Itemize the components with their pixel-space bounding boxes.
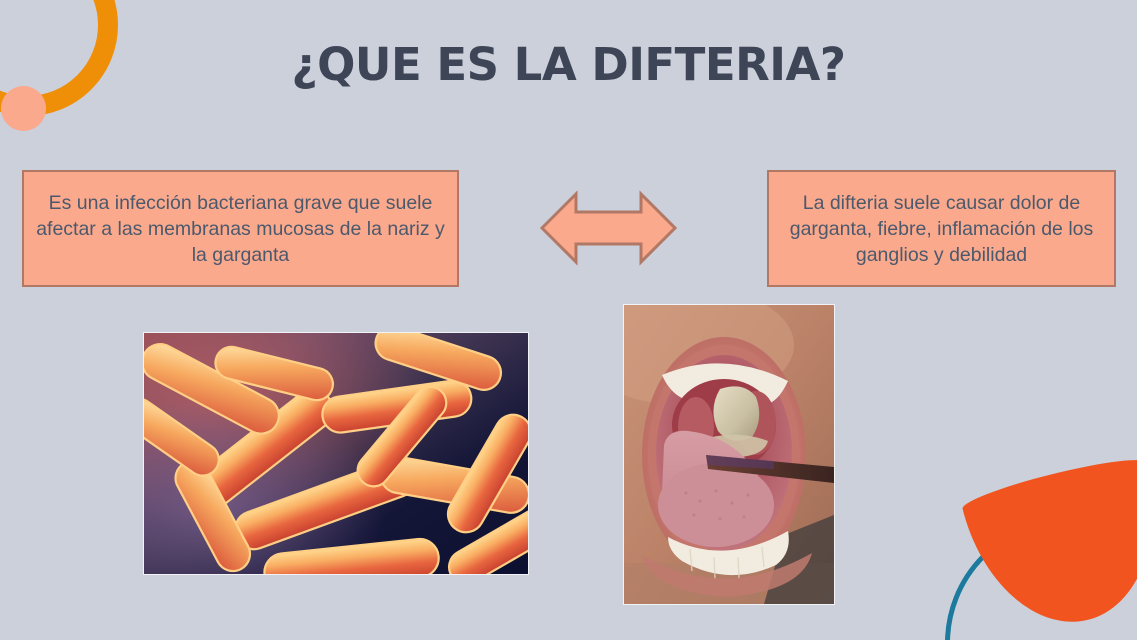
salmon-dot-decoration [1,86,46,131]
throat-clinical-image [624,305,834,604]
slide: ¿QUE ES LA DIFTERIA? Es una infección ba… [0,0,1137,640]
symptoms-text: La difteria suele causar dolor de gargan… [779,190,1104,268]
page-title: ¿QUE ES LA DIFTERIA? [0,38,1137,91]
bacteria-micrograph-image [144,333,528,574]
definition-text: Es una infección bacteriana grave que su… [34,190,447,268]
symptoms-textbox: La difteria suele causar dolor de gargan… [767,170,1116,287]
double-headed-arrow-icon [540,190,677,266]
definition-textbox: Es una infección bacteriana grave que su… [22,170,459,287]
